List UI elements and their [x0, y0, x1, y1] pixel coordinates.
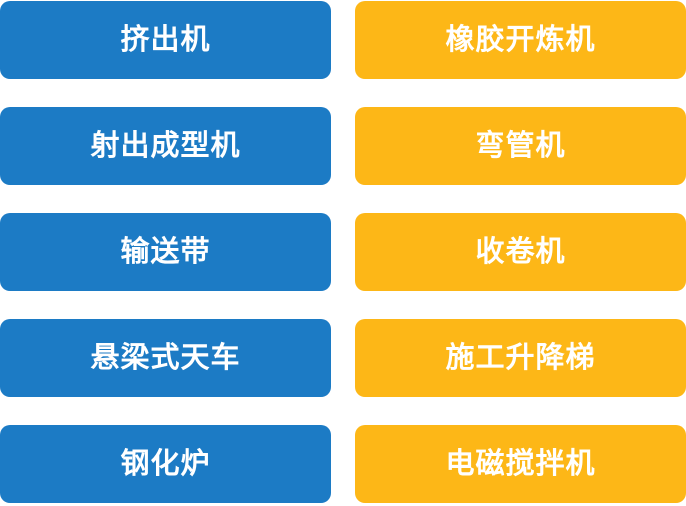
tag-button-tempering-furnace[interactable]: 钢化炉 [0, 425, 331, 503]
tag-button-label: 射出成型机 [90, 132, 240, 161]
tag-button-label: 弯管机 [475, 132, 565, 161]
tag-button-label: 施工升降梯 [445, 344, 595, 373]
tag-button-electromagnetic-stirrer[interactable]: 电磁搅拌机 [355, 425, 686, 503]
tag-button-label: 橡胶开炼机 [445, 26, 595, 55]
tag-button-label: 挤出机 [120, 26, 210, 55]
tag-button-label: 电磁搅拌机 [445, 450, 595, 479]
tag-button-construction-hoist[interactable]: 施工升降梯 [355, 319, 686, 397]
tag-button-extruder[interactable]: 挤出机 [0, 1, 331, 79]
tag-button-injection-molding-machine[interactable]: 射出成型机 [0, 107, 331, 185]
tag-button-cantilever-crane[interactable]: 悬梁式天车 [0, 319, 331, 397]
tag-button-grid: 挤出机橡胶开炼机射出成型机弯管机输送带收卷机悬梁式天车施工升降梯钢化炉电磁搅拌机 [0, 0, 686, 506]
tag-button-pipe-bender[interactable]: 弯管机 [355, 107, 686, 185]
tag-button-label: 悬梁式天车 [90, 344, 240, 373]
tag-button-label: 输送带 [120, 238, 210, 267]
tag-button-rewinder[interactable]: 收卷机 [355, 213, 686, 291]
tag-button-rubber-mixing-mill[interactable]: 橡胶开炼机 [355, 1, 686, 79]
tag-button-label: 收卷机 [475, 238, 565, 267]
tag-button-conveyor-belt[interactable]: 输送带 [0, 213, 331, 291]
tag-button-label: 钢化炉 [120, 450, 210, 479]
